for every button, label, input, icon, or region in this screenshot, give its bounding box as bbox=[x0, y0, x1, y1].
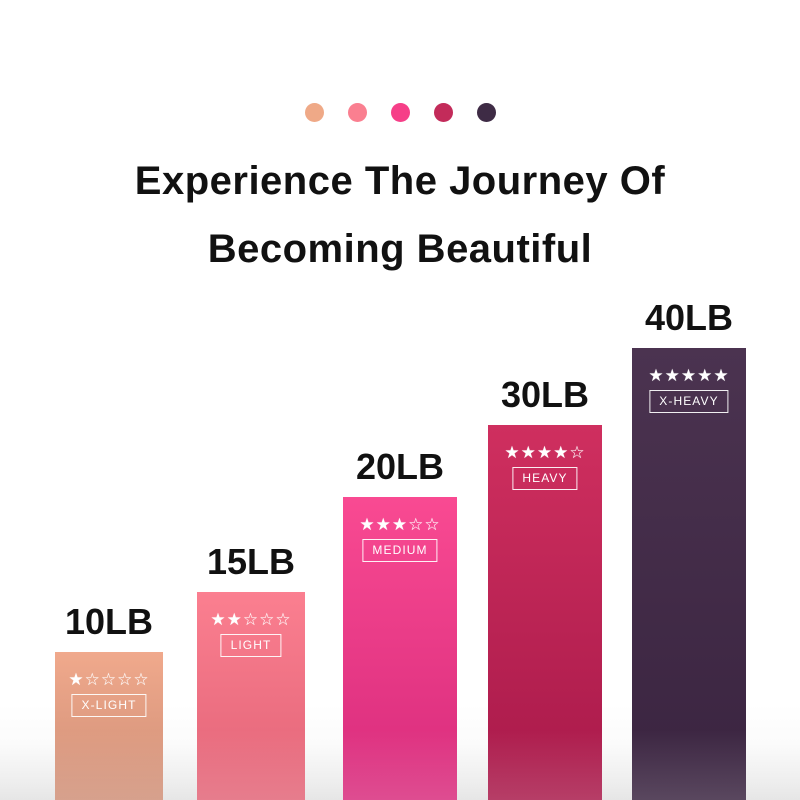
bar-x-heavy[interactable]: ★★★★★X-HEAVY bbox=[632, 348, 746, 800]
star-rating-icon: ★★★★★ bbox=[648, 366, 729, 385]
bar-badge-light: ★★☆☆☆LIGHT bbox=[210, 610, 291, 657]
weight-label-x-heavy: 40LB bbox=[645, 298, 733, 338]
bar-bottom-fade bbox=[55, 730, 163, 800]
bar-bottom-fade bbox=[343, 730, 457, 800]
bar-badge-medium: ★★★☆☆MEDIUM bbox=[359, 515, 440, 562]
bar-light[interactable]: ★★☆☆☆LIGHT bbox=[197, 592, 305, 800]
star-rating-icon: ★★★★☆ bbox=[504, 443, 585, 462]
weight-label-heavy: 30LB bbox=[501, 375, 589, 415]
tier-label: HEAVY bbox=[512, 467, 577, 490]
bar-bottom-fade bbox=[632, 730, 746, 800]
star-rating-icon: ★☆☆☆☆ bbox=[68, 670, 149, 689]
promo-graphic: Experience The Journey Of Becoming Beaut… bbox=[0, 0, 800, 800]
bar-bottom-fade bbox=[197, 730, 305, 800]
bar-bottom-fade bbox=[488, 730, 602, 800]
tier-label: MEDIUM bbox=[362, 539, 437, 562]
bar-group-heavy: ★★★★☆HEAVY30LB bbox=[488, 425, 602, 800]
bar-heavy[interactable]: ★★★★☆HEAVY bbox=[488, 425, 602, 800]
bar-group-light: ★★☆☆☆LIGHT15LB bbox=[197, 592, 305, 800]
bar-badge-heavy: ★★★★☆HEAVY bbox=[504, 443, 585, 490]
tier-label: X-HEAVY bbox=[649, 390, 729, 413]
bar-badge-x-light: ★☆☆☆☆X-LIGHT bbox=[68, 670, 149, 717]
weight-label-medium: 20LB bbox=[356, 447, 444, 487]
weight-label-x-light: 10LB bbox=[65, 602, 153, 642]
bar-group-x-heavy: ★★★★★X-HEAVY40LB bbox=[632, 348, 746, 800]
bar-group-x-light: ★☆☆☆☆X-LIGHT10LB bbox=[55, 652, 163, 800]
star-rating-icon: ★★☆☆☆ bbox=[210, 610, 291, 629]
bar-group-medium: ★★★☆☆MEDIUM20LB bbox=[343, 497, 457, 800]
bar-badge-x-heavy: ★★★★★X-HEAVY bbox=[648, 366, 729, 413]
tier-label: LIGHT bbox=[221, 634, 282, 657]
bar-x-light[interactable]: ★☆☆☆☆X-LIGHT bbox=[55, 652, 163, 800]
weight-label-light: 15LB bbox=[207, 542, 295, 582]
bar-medium[interactable]: ★★★☆☆MEDIUM bbox=[343, 497, 457, 800]
tier-label: X-LIGHT bbox=[71, 694, 146, 717]
star-rating-icon: ★★★☆☆ bbox=[359, 515, 440, 534]
resistance-band-bar-chart: ★☆☆☆☆X-LIGHT10LB★★☆☆☆LIGHT15LB★★★☆☆MEDIU… bbox=[0, 0, 800, 800]
